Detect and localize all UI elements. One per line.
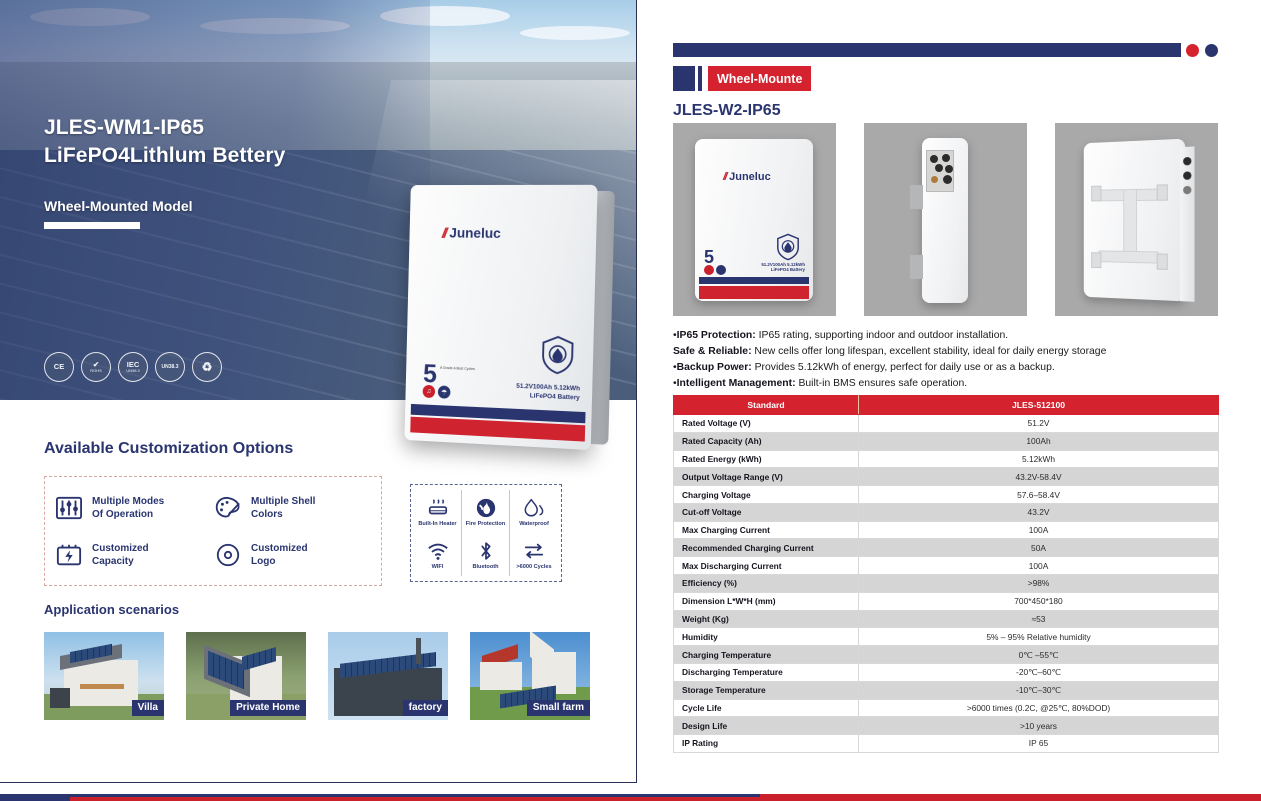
table-cell-value: 5% – 95% Relative humidity [859, 628, 1219, 646]
photo-spec-label: 51.2V100Ah 5.12kWh LiFePO4 Battery [761, 262, 805, 273]
bullet-item: •Backup Power: Provides 5.12kWh of energ… [673, 360, 1233, 376]
table-cell-value: 57.6–58.4V [859, 486, 1219, 504]
brochure-page: JLES-WM1-IP65 LiFePO4Lithlum Bettery Whe… [0, 0, 1261, 801]
cloud-shape [520, 26, 630, 40]
header-navy-bar [673, 43, 1181, 57]
table-header-row: Standard JLES-512100 [674, 396, 1219, 415]
rear-side-panel [1180, 146, 1195, 301]
table-row: Discharging Temperature-20℃–60℃ [674, 663, 1219, 681]
recycling-icon: ♻ [192, 352, 222, 382]
customization-option-modes: Multiple Modes Of Operation [55, 485, 212, 530]
table-row: Design Life>10 years [674, 717, 1219, 735]
scenario-label: Private Home [230, 700, 306, 716]
battery-spec-label: 51.2V100Ah 5.12kWh LiFePO4 Battery [516, 383, 580, 403]
table-cell-key: Cut-off Voltage [674, 503, 859, 521]
application-scenarios-title: Application scenarios [44, 602, 179, 617]
table-cell-key: Output Voltage Range (V) [674, 468, 859, 486]
feature-label: Waterproof [519, 521, 549, 527]
connector-panel [926, 150, 954, 192]
feature-cycles: >6000 Cycles [510, 533, 558, 576]
application-scenarios-row: Villa Private Home factory [44, 632, 590, 720]
table-cell-key: Storage Temperature [674, 681, 859, 699]
table-cell-key: Rated Capacity (Ah) [674, 432, 859, 450]
table-cell-key: Max Charging Current [674, 521, 859, 539]
table-cell-key: Efficiency (%) [674, 575, 859, 593]
scenario-card-private-home: Private Home [186, 632, 306, 720]
table-row: Charging Temperature0℃ –55℃ [674, 646, 1219, 664]
battery-front-face: // Juneluc 5 A Grade A Best Cycles ♫ ☂ [404, 185, 597, 450]
feature-bluetooth: Bluetooth [462, 533, 510, 576]
bullet-text: Built-in BMS ensures safe operation. [796, 378, 968, 389]
scenario-card-villa: Villa [44, 632, 164, 720]
header-navy-dot [1205, 44, 1218, 57]
feature-label: Bluetooth [472, 564, 498, 570]
bullet-text: IP65 rating, supporting indoor and outdo… [756, 330, 1008, 341]
product-title: JLES-W2-IP65 [673, 102, 781, 120]
customization-option-label: Customized Capacity [92, 542, 149, 568]
bullet-label: Intelligent Management: [677, 378, 796, 389]
product-photo-rear [1055, 123, 1218, 316]
battery-product-image: // Juneluc 5 A Grade A Best Cycles ♫ ☂ [404, 185, 597, 450]
tag-bar-icon [698, 66, 702, 91]
table-row: Cut-off Voltage43.2V [674, 503, 1219, 521]
table-cell-key: Max Discharging Current [674, 557, 859, 575]
table-row: Max Discharging Current100A [674, 557, 1219, 575]
bullet-text: New cells offer long lifespan, excellent… [752, 346, 1107, 357]
screw-icon [931, 176, 938, 183]
feature-bullets: •IP65 Protection: IP65 rating, supportin… [673, 328, 1233, 392]
hero-subtitle: Wheel-Mounted Model [44, 198, 193, 214]
waterproof-icon [523, 497, 545, 519]
bullet-label: Backup Power: [677, 362, 752, 373]
table-row: Cycle Life>6000 times (0.2C, @25℃, 80%DO… [674, 699, 1219, 717]
water-shield-icon [776, 233, 800, 261]
table-cell-value: 5.12kWh [859, 450, 1219, 468]
terminal-icon [930, 155, 938, 163]
feature-wifi: WIFI [414, 533, 462, 576]
bullet-item: •Intelligent Management: Built-in BMS en… [673, 376, 1233, 392]
terminal-icon [945, 165, 953, 173]
bracket-clip [1091, 186, 1101, 202]
table-row: Weight (Kg)≈53 [674, 610, 1219, 628]
table-body: Rated Voltage (V)51.2VRated Capacity (Ah… [674, 415, 1219, 753]
customization-option-label: Multiple Modes Of Operation [92, 495, 164, 521]
section-tag-label: Wheel-Mounte [708, 66, 811, 91]
table-cell-key: Discharging Temperature [674, 663, 859, 681]
feature-label: >6000 Cycles [516, 564, 551, 570]
ce-icon: CE [44, 352, 74, 382]
table-cell-value: IP 65 [859, 735, 1219, 753]
tag-square-icon [673, 66, 695, 91]
palette-icon [214, 495, 242, 521]
bullet-label: Safe & Reliable: [673, 346, 752, 357]
customization-option-logo: Customized Logo [214, 532, 371, 577]
specification-table: Standard JLES-512100 Rated Voltage (V)51… [673, 395, 1219, 753]
feature-label: Fire Protection [466, 521, 505, 527]
brand-name: Juneluc [449, 225, 501, 241]
product-photo-front: // Juneluc 5 51.2V100Ah 5.12kWh [673, 123, 836, 316]
bracket-clip [1157, 253, 1168, 270]
wifi-icon [427, 540, 449, 562]
heater-icon [427, 497, 449, 519]
table-cell-key: Charging Temperature [674, 646, 859, 664]
scenario-label: Villa [132, 700, 164, 716]
left-panel: JLES-WM1-IP65 LiFePO4Lithlum Bettery Whe… [0, 0, 637, 783]
table-cell-value: >10 years [859, 717, 1219, 735]
scenario-label: factory [403, 700, 448, 716]
battery-side-body [922, 138, 968, 303]
section-tag-row: Wheel-Mounte [673, 66, 811, 91]
mount-bracket-icon [910, 255, 923, 279]
table-cell-key: Design Life [674, 717, 859, 735]
warranty-block: 5 A Grade A Best Cycles [423, 362, 475, 386]
photo-navy-stripe [699, 277, 809, 284]
bracket-clip [1091, 252, 1101, 268]
bullet-label: IP65 Protection: [677, 330, 756, 341]
table-cell-value: >98% [859, 575, 1219, 593]
logo-disc-icon [214, 542, 242, 568]
table-row: Max Charging Current100A [674, 521, 1219, 539]
brand-mark-icon: // [442, 225, 446, 241]
scenario-card-small-farm: Small farm [470, 632, 590, 720]
product-photos: // Juneluc 5 51.2V100Ah 5.12kWh [673, 123, 1218, 316]
un383-icon: UN38.3 [155, 352, 185, 382]
table-cell-value: 51.2V [859, 415, 1219, 433]
table-cell-key: Weight (Kg) [674, 610, 859, 628]
terminal-icon [935, 164, 943, 172]
cycles-icon [523, 540, 545, 562]
photo-red-stripe [699, 286, 809, 299]
customization-option-shell-colors: Multiple Shell Colors [214, 485, 371, 530]
table-cell-value: 43.2V [859, 503, 1219, 521]
fire-badge-icon [704, 265, 714, 275]
table-row: Rated Capacity (Ah)100Ah [674, 432, 1219, 450]
table-row: Charging Voltage57.6–58.4V [674, 486, 1219, 504]
customization-option-label: Multiple Shell Colors [251, 495, 315, 521]
table-cell-value: 0℃ –55℃ [859, 646, 1219, 664]
capacity-icon [55, 542, 83, 568]
table-row: Dimension L*W*H (mm)700*450*180 [674, 592, 1219, 610]
table-row: Rated Voltage (V)51.2V [674, 415, 1219, 433]
feature-waterproof: Waterproof [510, 490, 558, 533]
bullet-text: Provides 5.12kWh of energy, perfect for … [752, 362, 1055, 373]
table-cell-key: Humidity [674, 628, 859, 646]
table-cell-value: 100A [859, 557, 1219, 575]
customization-title: Available Customization Options [44, 440, 293, 458]
bluetooth-badge-icon [716, 265, 726, 275]
battery-body: // Juneluc 5 51.2V100Ah 5.12kWh [695, 139, 813, 301]
hero-title: JLES-WM1-IP65 LiFePO4Lithlum Bettery [44, 114, 285, 170]
table-cell-key: Charging Voltage [674, 486, 859, 504]
table-cell-key: Recommended Charging Current [674, 539, 859, 557]
bluetooth-badge-icon: ☂ [438, 385, 451, 398]
table-cell-value: 50A [859, 539, 1219, 557]
right-panel: Wheel-Mounte JLES-W2-IP65 // Juneluc 5 [660, 0, 1261, 801]
table-row: Storage Temperature-10℃–30℃ [674, 681, 1219, 699]
header-red-dot [1186, 44, 1199, 57]
table-cell-value: ≈53 [859, 610, 1219, 628]
battery-feature-badges: ♫ ☂ [423, 385, 451, 399]
photo-brand-logo: // Juneluc [723, 171, 771, 183]
bracket-clip [1157, 184, 1168, 200]
table-cell-value: -10℃–30℃ [859, 681, 1219, 699]
feature-fire-protection: Fire Protection [462, 490, 510, 533]
feature-built-in-heater: Built-In Heater [414, 490, 462, 533]
table-row: Humidity5% – 95% Relative humidity [674, 628, 1219, 646]
table-cell-key: Rated Energy (kWh) [674, 450, 859, 468]
terminal-icon [942, 154, 950, 162]
feature-label: WIFI [432, 564, 444, 570]
table-row: Rated Energy (kWh)5.12kWh [674, 450, 1219, 468]
scenario-label: Small farm [527, 700, 590, 716]
water-shield-icon [540, 334, 575, 376]
customization-options-box: Multiple Modes Of Operation Multiple She… [44, 476, 382, 586]
bluetooth-icon [475, 540, 497, 562]
hero-title-line1: JLES-WM1-IP65 [44, 114, 285, 142]
table-cell-key: Dimension L*W*H (mm) [674, 592, 859, 610]
customization-option-capacity: Customized Capacity [55, 532, 212, 577]
table-cell-value: >6000 times (0.2C, @25℃, 80%DOD) [859, 699, 1219, 717]
battery-rear-body [1084, 139, 1185, 302]
table-cell-value: 100A [859, 521, 1219, 539]
bullet-item: Safe & Reliable: New cells offer long li… [673, 344, 1233, 360]
table-cell-value: 100Ah [859, 432, 1219, 450]
fire-protection-icon [475, 497, 497, 519]
fire-badge-icon: ♫ [423, 385, 436, 398]
certification-badges: CE ✔ ROHS IEC UN38.3 UN38.3 ♻ [44, 352, 222, 382]
hero-title-line2: LiFePO4Lithlum Bettery [44, 142, 285, 170]
warranty-number: 5 [704, 250, 714, 265]
sliders-icon [55, 495, 83, 521]
bullet-item: •IP65 Protection: IP65 rating, supportin… [673, 328, 1233, 344]
product-photo-side [864, 123, 1027, 316]
brand-name: Juneluc [729, 171, 771, 183]
hero-underline [44, 222, 140, 229]
table-header-key: Standard [674, 396, 859, 415]
table-row: Recommended Charging Current50A [674, 539, 1219, 557]
table-cell-value: -20℃–60℃ [859, 663, 1219, 681]
scenario-card-factory: factory [328, 632, 448, 720]
table-cell-key: Rated Voltage (V) [674, 415, 859, 433]
table-cell-key: IP Rating [674, 735, 859, 753]
table-row: Output Voltage Range (V)43.2V-58.4V [674, 468, 1219, 486]
terminal-icon [943, 175, 952, 184]
table-row: Efficiency (%)>98% [674, 575, 1219, 593]
iec-icon: IEC UN38.3 [118, 352, 148, 382]
table-row: IP RatingIP 65 [674, 735, 1219, 753]
table-cell-key: Cycle Life [674, 699, 859, 717]
mount-bracket-icon [910, 185, 923, 209]
feature-icons-box: Built-In Heater Fire Protection Waterpro… [410, 484, 562, 582]
footer-red-accent [70, 797, 1261, 801]
photo-badges [704, 265, 726, 275]
table-header-value: JLES-512100 [859, 396, 1219, 415]
customization-option-label: Customized Logo [251, 542, 308, 568]
table-cell-value: 700*450*180 [859, 592, 1219, 610]
table-cell-value: 43.2V-58.4V [859, 468, 1219, 486]
brand-mark-icon: // [723, 171, 726, 183]
bracket-rail [1099, 250, 1159, 263]
battery-brand-logo: // Juneluc [442, 225, 501, 241]
feature-label: Built-In Heater [418, 521, 456, 527]
rohs-icon: ✔ ROHS [81, 352, 111, 382]
